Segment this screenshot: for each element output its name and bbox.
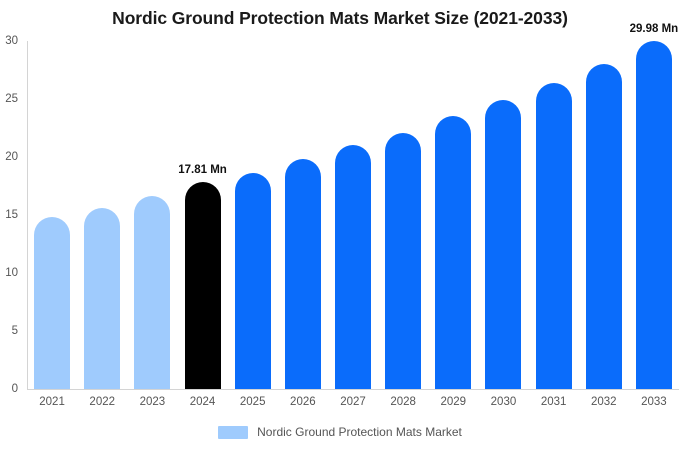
bar-2025[interactable] <box>235 173 271 389</box>
bar-group <box>84 41 120 389</box>
bar-group <box>435 41 471 389</box>
x-axis-tick-label: 2024 <box>190 396 216 408</box>
x-axis-tick-label: 2032 <box>591 396 617 408</box>
y-axis-tick-label: 0 <box>0 383 18 395</box>
y-axis-tick-label: 5 <box>0 325 18 337</box>
x-axis-tick-label: 2023 <box>140 396 166 408</box>
bar-group <box>485 41 521 389</box>
bar-2023[interactable] <box>134 196 170 389</box>
bar-2028[interactable] <box>385 133 421 389</box>
y-axis-tick-label: 15 <box>0 209 18 221</box>
legend-swatch <box>218 426 248 439</box>
bar-value-label: 29.98 Mn <box>630 23 679 35</box>
y-axis-tick-label: 20 <box>0 151 18 163</box>
x-axis-tick-label: 2028 <box>390 396 416 408</box>
x-axis-tick-label: 2029 <box>441 396 467 408</box>
bars-layer: 17.81 Mn29.98 Mn <box>27 41 679 389</box>
bar-group <box>235 41 271 389</box>
bar-2030[interactable] <box>485 100 521 389</box>
x-axis-tick-label: 2021 <box>39 396 65 408</box>
bar-value-label: 17.81 Mn <box>178 164 227 176</box>
bar-2022[interactable] <box>84 208 120 389</box>
bar-2026[interactable] <box>285 159 321 389</box>
x-axis-line <box>27 389 679 390</box>
x-axis-tick-label: 2022 <box>89 396 115 408</box>
bar-group <box>185 41 221 389</box>
bar-2021[interactable] <box>34 217 70 389</box>
bar-2031[interactable] <box>536 83 572 389</box>
x-axis-tick-label: 2033 <box>641 396 667 408</box>
chart-title: Nordic Ground Protection Mats Market Siz… <box>0 8 680 29</box>
bar-2029[interactable] <box>435 116 471 389</box>
x-axis-tick-label: 2027 <box>340 396 366 408</box>
y-axis-tick-label: 30 <box>0 35 18 47</box>
chart-legend: Nordic Ground Protection Mats Market <box>0 425 680 439</box>
bar-2027[interactable] <box>335 145 371 389</box>
bar-group <box>536 41 572 389</box>
bar-group <box>134 41 170 389</box>
bar-group <box>385 41 421 389</box>
bar-2024[interactable] <box>185 182 221 389</box>
bar-group <box>335 41 371 389</box>
bar-2033[interactable] <box>636 41 672 389</box>
y-axis-tick-label: 25 <box>0 93 18 105</box>
y-axis-tick-label: 10 <box>0 267 18 279</box>
bar-group <box>34 41 70 389</box>
x-axis-tick-label: 2025 <box>240 396 266 408</box>
x-axis-tick-label: 2030 <box>491 396 517 408</box>
bar-chart: Nordic Ground Protection Mats Market Siz… <box>0 0 680 450</box>
x-axis-tick-label: 2026 <box>290 396 316 408</box>
bar-group <box>636 41 672 389</box>
x-axis-tick-label: 2031 <box>541 396 567 408</box>
bar-group <box>285 41 321 389</box>
legend-label: Nordic Ground Protection Mats Market <box>257 425 462 439</box>
bar-group <box>586 41 622 389</box>
plot-area: 17.81 Mn29.98 Mn <box>27 41 679 389</box>
bar-2032[interactable] <box>586 64 622 389</box>
